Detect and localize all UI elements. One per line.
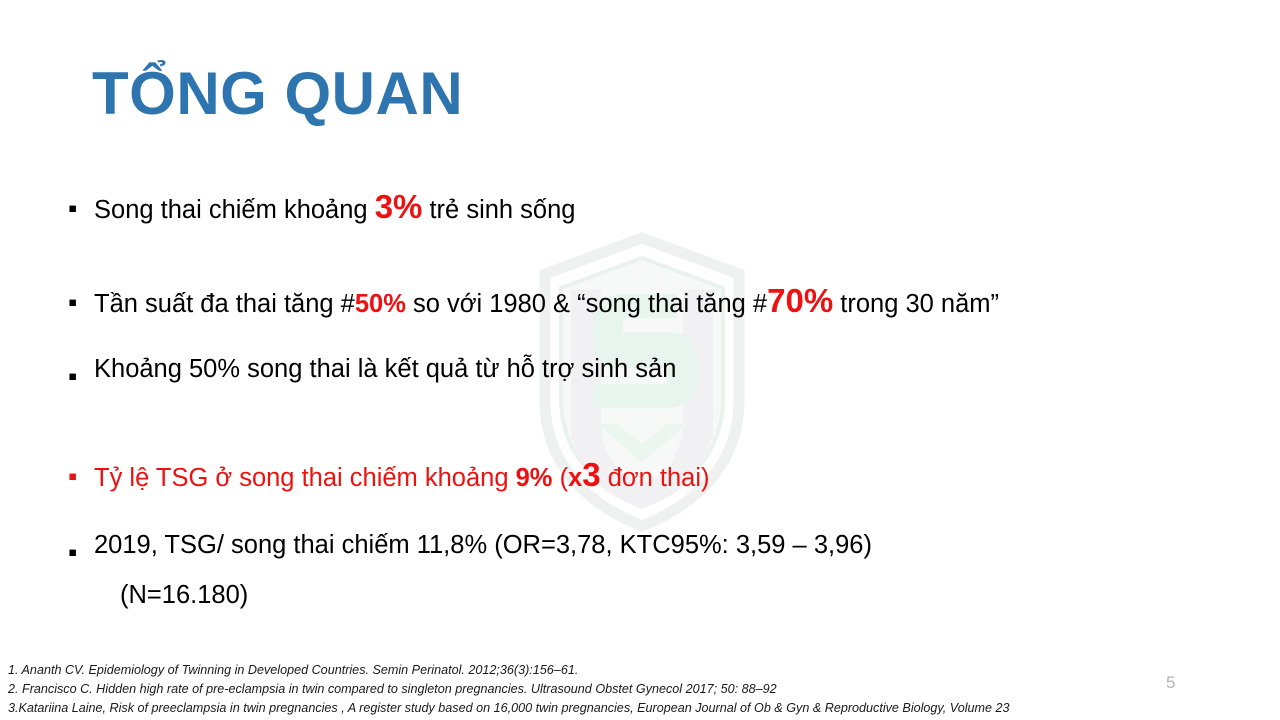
list-item-text: Tỷ lệ TSG ở song thai chiếm khoảng 9% (x… — [94, 454, 709, 495]
references-list: 1. Ananth CV. Epidemiology of Twinning i… — [8, 661, 1010, 718]
reference-item: 1. Ananth CV. Epidemiology of Twinning i… — [8, 661, 1010, 680]
bullet-marker-icon: ▪ — [68, 280, 94, 315]
page-title: TỔNG QUAN — [92, 62, 463, 125]
bullet4-stat-9pct: 9% — [516, 464, 553, 492]
list-item-text: Tần suất đa thai tăng #50% so với 1980 &… — [94, 280, 999, 321]
reference-item: 2. Francisco C. Hidden high rate of pre-… — [8, 680, 1010, 699]
bullet-marker-icon: ▪ — [68, 454, 94, 489]
list-item-text: Song thai chiếm khoảng 3% trẻ sinh sống — [94, 186, 575, 227]
list-item: ▪ Song thai chiếm khoảng 3% trẻ sinh sốn… — [68, 186, 575, 227]
page-number: 5 — [1166, 673, 1175, 693]
bullet1-stat-3pct: 3% — [375, 188, 423, 225]
bullet-marker-icon: ▪ — [68, 530, 94, 565]
bullet2-stat-70pct: 70% — [767, 282, 833, 319]
bullet-marker-icon: ▪ — [68, 186, 94, 221]
reference-item: 3.Katariina Laine, Risk of preeclampsia … — [8, 699, 1010, 718]
list-item: ▪ Khoảng 50% song thai là kết quả từ hỗ … — [68, 354, 676, 389]
bullet5-line2: (N=16.180) — [94, 580, 1229, 612]
bullet4-part6: đơn thai) — [601, 464, 710, 492]
list-item-text: Khoảng 50% song thai là kết quả từ hỗ tr… — [94, 354, 676, 386]
bullet5-line1: 2019, TSG/ song thai chiếm 11,8% (OR=3,7… — [94, 531, 872, 559]
bullet4-part1: Tỷ lệ TSG ở song thai chiếm khoảng — [94, 464, 516, 492]
bullet2-stat-50pct: 50% — [355, 290, 406, 318]
bullet-marker-icon: ▪ — [68, 354, 94, 389]
list-item: ▪ Tỷ lệ TSG ở song thai chiếm khoảng 9% … — [68, 454, 709, 495]
list-item: ▪ Tần suất đa thai tăng #50% so với 1980… — [68, 280, 999, 321]
list-item: ▪ 2019, TSG/ song thai chiếm 11,8% (OR=3… — [68, 530, 1233, 612]
list-item-text: 2019, TSG/ song thai chiếm 11,8% (OR=3,7… — [94, 530, 1229, 612]
bullet1-part1: Song thai chiếm khoảng — [94, 196, 375, 224]
bullet1-part3: trẻ sinh sống — [422, 196, 575, 224]
bullet2-part3: so với 1980 & “song thai tăng # — [406, 290, 767, 318]
bullet4-multiplier-3: 3 — [582, 456, 600, 493]
bullet2-part5: trong 30 năm” — [833, 290, 999, 318]
bullet4-part3: ( — [552, 464, 568, 492]
bullet4-multiplier-x: x — [568, 464, 582, 492]
bullet2-part1: Tần suất đa thai tăng # — [94, 290, 355, 318]
